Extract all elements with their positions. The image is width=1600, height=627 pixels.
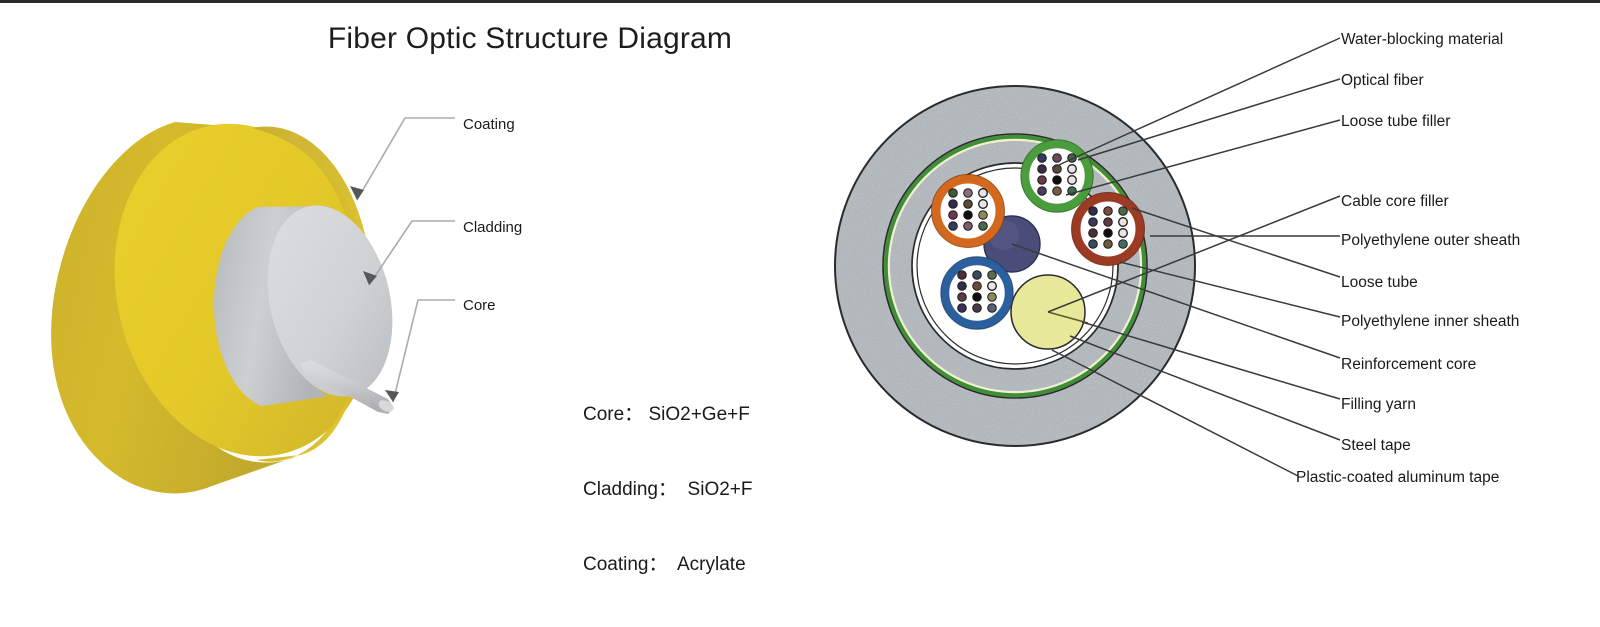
legend-line-coating: Coating： Acrylate	[583, 552, 753, 577]
callout-label-loose-tube: Loose tube	[1341, 275, 1418, 291]
callout-label-core: Core	[463, 298, 496, 313]
diagram-canvas: Fiber Optic Structure Diagram	[0, 0, 1600, 533]
callout-label-polyethylene-outer-sheath: Polyethylene outer sheath	[1341, 233, 1520, 249]
fiber-optic-cable-cross-section	[820, 0, 1600, 533]
cladding-cylinder	[214, 193, 410, 409]
callout-label-plastic-coated-aluminum-tape: Plastic-coated aluminum tape	[1296, 470, 1499, 486]
legend-line-cladding: Cladding： SiO2+F	[583, 477, 753, 502]
loose-tube-blue	[941, 257, 1013, 329]
loose-tube-green	[1021, 140, 1093, 212]
loose-tube-brown	[1072, 193, 1145, 266]
callout-label-optical-fiber: Optical fiber	[1341, 73, 1424, 89]
callout-label-polyethylene-inner-sheath: Polyethylene inner sheath	[1341, 314, 1519, 330]
callout-label-steel-tape: Steel tape	[1341, 438, 1411, 454]
callout-label-cladding: Cladding	[463, 220, 522, 235]
callout-label-water-blocking-material: Water-blocking material	[1341, 32, 1503, 48]
optical-fiber-3d-cutaway	[0, 0, 560, 533]
legend-line-core: Core： SiO2+Ge+F	[583, 402, 753, 427]
callout-label-filling-yarn: Filling yarn	[1341, 397, 1416, 413]
material-legend: Core： SiO2+Ge+F Cladding： SiO2+F Coating…	[583, 352, 753, 627]
callout-label-reinforcement-core: Reinforcement core	[1341, 357, 1476, 373]
callout-label-coating: Coating	[463, 117, 515, 132]
callout-label-loose-tube-filler: Loose tube filler	[1341, 114, 1450, 130]
callout-label-cable-core-filler: Cable core filler	[1341, 194, 1449, 210]
loose-tube-orange	[932, 175, 1005, 248]
